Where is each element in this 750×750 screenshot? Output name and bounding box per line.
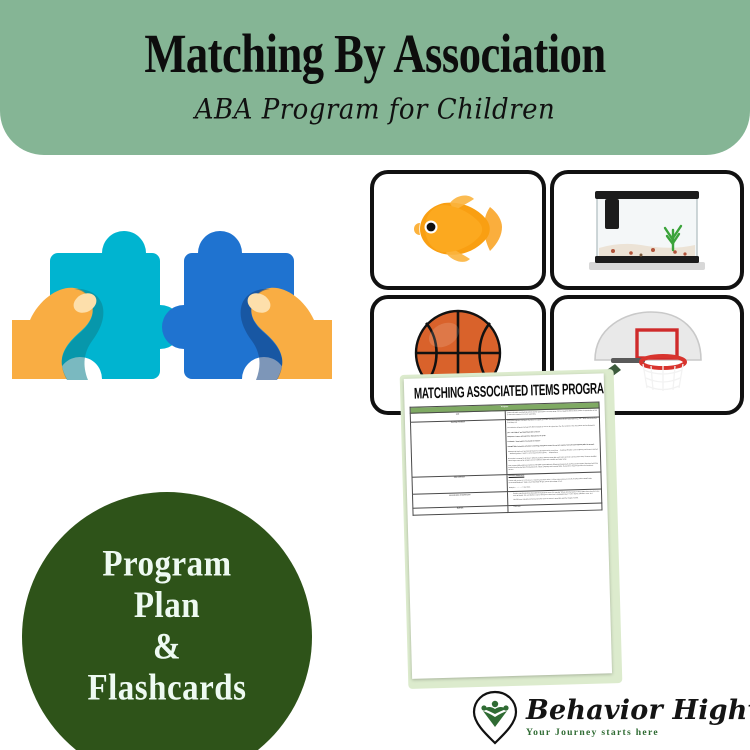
flashcard-goldfish[interactable]	[370, 170, 546, 290]
logo-text-block: Behavior Highway Your Journey starts her…	[526, 697, 750, 738]
program-plan-badge: Program Plan & Flashcards	[22, 492, 312, 750]
logo-brand-name: Behavior Highway	[526, 697, 750, 724]
right-hand	[241, 288, 332, 380]
row-label-teaching-procedure: Teaching Procedure	[410, 419, 506, 477]
tp-p8: Remember to arrange the pictures in diff…	[508, 456, 598, 463]
mat-b1: Flashcards	[513, 505, 599, 510]
tp-p6: PROMPTING: Instructor will utilize contr…	[508, 445, 598, 450]
program-document[interactable]: MATCHING ASSOCIATED ITEMS PROGRAM Progra…	[400, 369, 623, 689]
brand-logo[interactable]: Behavior Highway Your Journey starts her…	[470, 688, 742, 746]
row-content-teaching-procedure: During this program, it will teach the l…	[505, 417, 601, 475]
badge-line-4: Flashcards	[87, 668, 246, 709]
tp-p5: Feedback: "Great match! You found the ma…	[508, 440, 598, 445]
tp-p4: Response: Learner will match the flashca…	[508, 435, 598, 440]
table-row-teaching-procedure: Teaching Procedure During this program, …	[410, 417, 600, 477]
document-title: MATCHING ASSOCIATED ITEMS PROGRAM	[414, 382, 595, 404]
badge-line-3: &	[87, 627, 246, 668]
tp-p7: Full Physical Hand over hand prompt lear…	[508, 449, 598, 456]
tp-p2: The instructor will present at least 3-5…	[507, 425, 597, 430]
dc-p2: Learner will receive a (+) if incorrect,…	[509, 478, 599, 485]
flashcard-fish-tank-image	[554, 174, 740, 286]
row-content-materials: Flashcards	[507, 503, 602, 513]
row-label-materials: Materials	[413, 505, 508, 515]
tp-p9: This program fulfills skills found withi…	[508, 463, 598, 472]
puzzle-hands-illustration	[12, 215, 332, 415]
left-hand	[12, 288, 103, 380]
gm-b2: Use 3D items collected and found around …	[513, 497, 599, 502]
logo-tagline: Your Journey starts here	[526, 727, 750, 738]
document-page: MATCHING ASSOCIATED ITEMS PROGRAM Progra…	[404, 373, 612, 678]
badge-line-1: Program	[87, 544, 246, 585]
badge-line-2: Plan	[87, 586, 246, 627]
location-pin-with-people-icon	[470, 689, 520, 745]
tp-p3: SD: "Let's Match" and hand flashcard to …	[507, 430, 597, 435]
program-table: Program Goal Learner will match non-iden…	[410, 401, 603, 515]
flashcard-goldfish-image	[374, 174, 542, 286]
page-title: Matching By Association	[144, 27, 605, 82]
poster-canvas: Matching By Association ABA Program for …	[0, 0, 750, 750]
flashcard-fish-tank[interactable]	[550, 170, 744, 290]
header-banner: Matching By Association ABA Program for …	[0, 0, 750, 155]
tp-p1: During this program, it will teach the l…	[507, 419, 597, 426]
dc-p1: Percent of Opportunity	[509, 473, 599, 478]
page-subtitle: ABA Program for Children	[195, 96, 555, 124]
badge-text: Program Plan & Flashcards	[87, 544, 246, 730]
